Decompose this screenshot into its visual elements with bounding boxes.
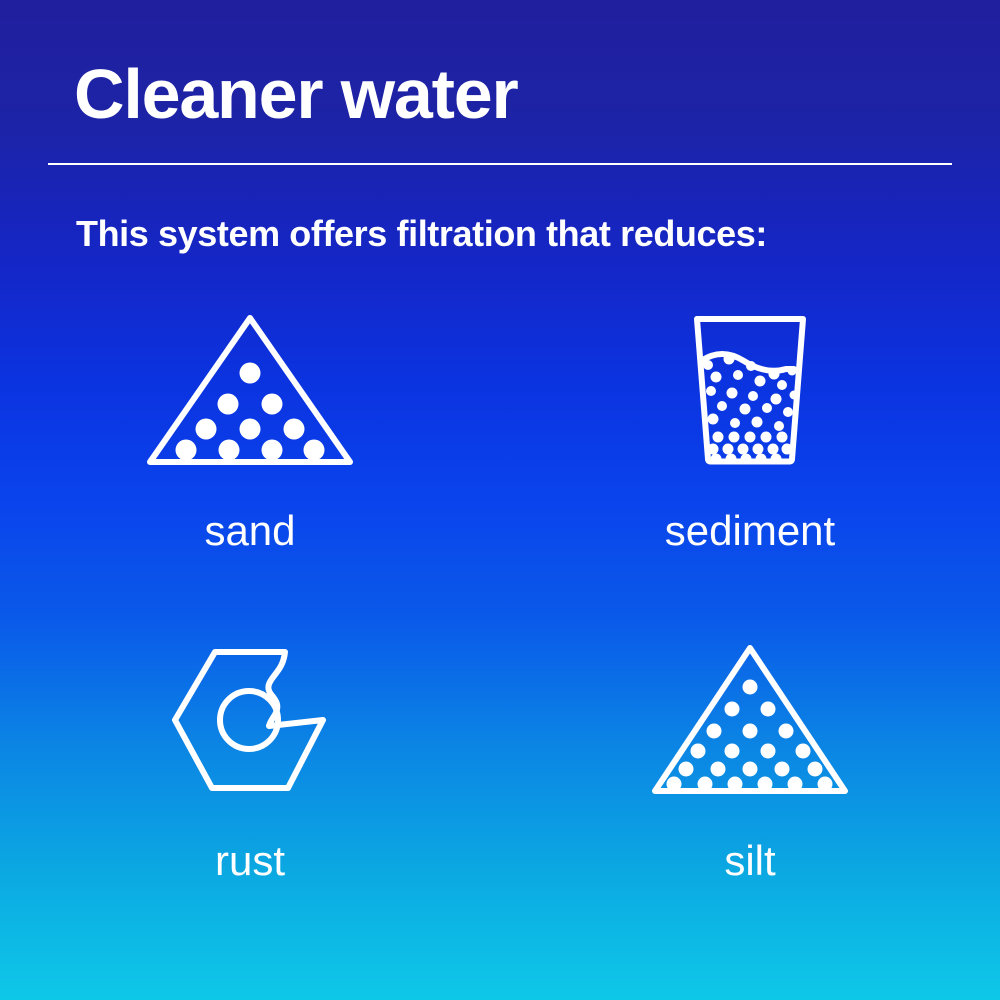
item-sand: sand [0,300,500,630]
page-title: Cleaner water [74,52,518,136]
rust-icon-wrap [165,630,335,810]
item-sediment: sediment [500,300,1000,630]
header-divider [48,163,952,165]
sand-icon-wrap [142,300,358,480]
triangle-dots-coarse-icon [142,310,358,470]
filtration-items-grid: sand [0,300,1000,920]
glass-of-water-particles-icon [682,309,818,471]
page-subtitle: This system offers filtration that reduc… [76,210,767,258]
silt-icon-wrap [648,630,852,810]
poster: Cleaner water This system offers filtrat… [0,0,1000,1000]
triangle-dots-fine-icon [648,641,852,799]
sediment-icon-wrap [682,300,818,480]
item-label-sand: sand [204,506,295,556]
item-label-rust: rust [215,836,285,886]
item-rust: rust [0,630,500,920]
corroded-hex-nut-icon [165,640,335,800]
item-label-silt: silt [724,836,775,886]
item-label-sediment: sediment [665,506,835,556]
item-silt: silt [500,630,1000,920]
